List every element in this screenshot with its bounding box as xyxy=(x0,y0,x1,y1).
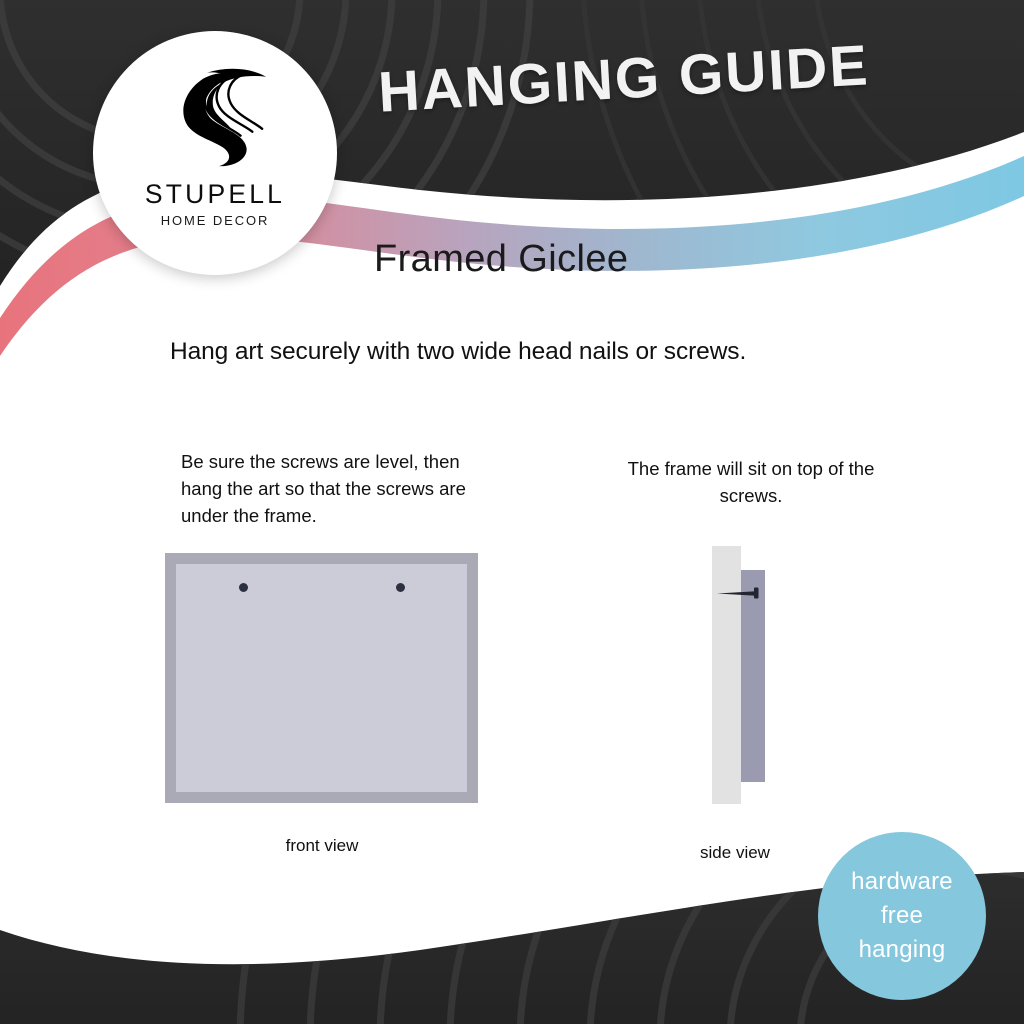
hardware-free-hanging-badge: hardware free hanging xyxy=(818,832,986,1000)
front-view-label: front view xyxy=(222,836,422,856)
brand-name: STUPELL xyxy=(145,179,285,210)
wall-strip xyxy=(712,546,741,804)
front-view-caption: Be sure the screws are level, then hang … xyxy=(181,448,481,529)
hanging-guide-page: HANGING GUIDE STUPELL HOME DECOR Framed … xyxy=(0,0,1024,1024)
brand-logo-badge: STUPELL HOME DECOR xyxy=(93,31,337,275)
front-view-diagram xyxy=(165,553,478,803)
product-type-label: Framed Giclee xyxy=(374,238,628,281)
nail-icon xyxy=(716,587,764,599)
badge-line-1: hardware xyxy=(851,865,953,899)
screw-dot-left xyxy=(239,583,248,592)
stupell-swoosh-logo-icon xyxy=(151,61,279,171)
page-title: HANGING GUIDE xyxy=(377,32,871,125)
main-instruction: Hang art securely with two wide head nai… xyxy=(170,338,870,366)
badge-line-2: free xyxy=(881,899,923,933)
frame-strip xyxy=(741,570,765,782)
frame-artwork-area xyxy=(176,564,467,792)
screw-dot-right xyxy=(396,583,405,592)
side-view-label: side view xyxy=(635,843,835,863)
side-view-caption: The frame will sit on top of the screws. xyxy=(611,455,891,509)
side-view-diagram xyxy=(710,546,790,806)
badge-line-3: hanging xyxy=(859,933,946,967)
brand-tagline: HOME DECOR xyxy=(161,213,270,228)
